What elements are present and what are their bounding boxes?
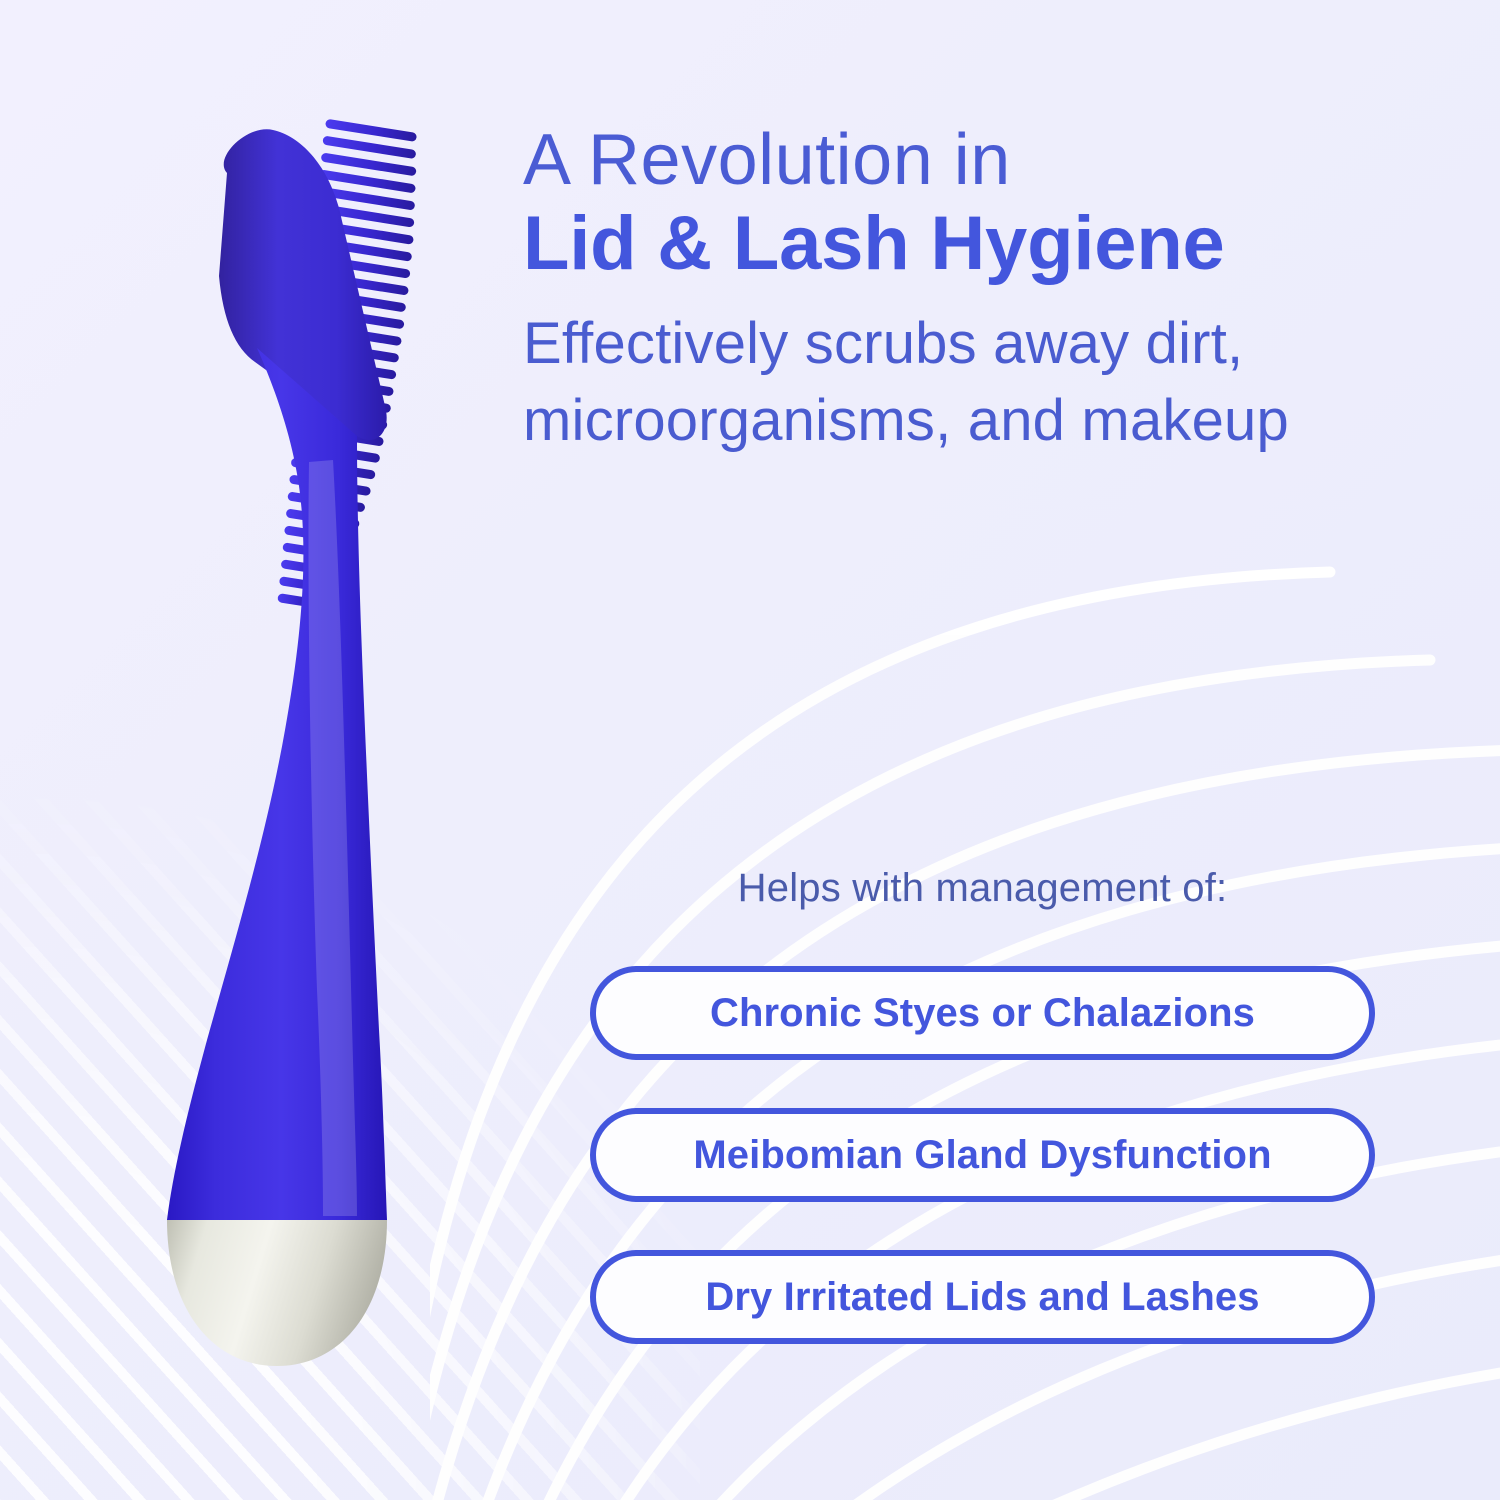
condition-pill[interactable]: Meibomian Gland Dysfunction	[590, 1108, 1375, 1202]
marketing-banner: A Revolution in Lid & Lash Hygiene Effec…	[0, 0, 1500, 1500]
product-base-cap	[167, 1220, 387, 1366]
helps-with-section: Helps with management of:	[590, 866, 1375, 911]
product-image	[95, 80, 525, 1410]
product-handle	[167, 348, 387, 1220]
helps-with-title: Helps with management of:	[590, 866, 1375, 911]
condition-pill-list: Chronic Styes or Chalazions Meibomian Gl…	[590, 966, 1375, 1344]
condition-pill-label: Dry Irritated Lids and Lashes	[705, 1275, 1259, 1320]
copy-block: A Revolution in Lid & Lash Hygiene Effec…	[523, 122, 1423, 459]
headline-line-2: Lid & Lash Hygiene	[523, 198, 1423, 291]
condition-pill[interactable]: Chronic Styes or Chalazions	[590, 966, 1375, 1060]
condition-pill-label: Chronic Styes or Chalazions	[710, 991, 1255, 1036]
headline-line-1: A Revolution in	[523, 122, 1423, 198]
subheadline: Effectively scrubs away dirt, microorgan…	[523, 305, 1393, 459]
condition-pill[interactable]: Dry Irritated Lids and Lashes	[590, 1250, 1375, 1344]
condition-pill-label: Meibomian Gland Dysfunction	[693, 1133, 1271, 1178]
